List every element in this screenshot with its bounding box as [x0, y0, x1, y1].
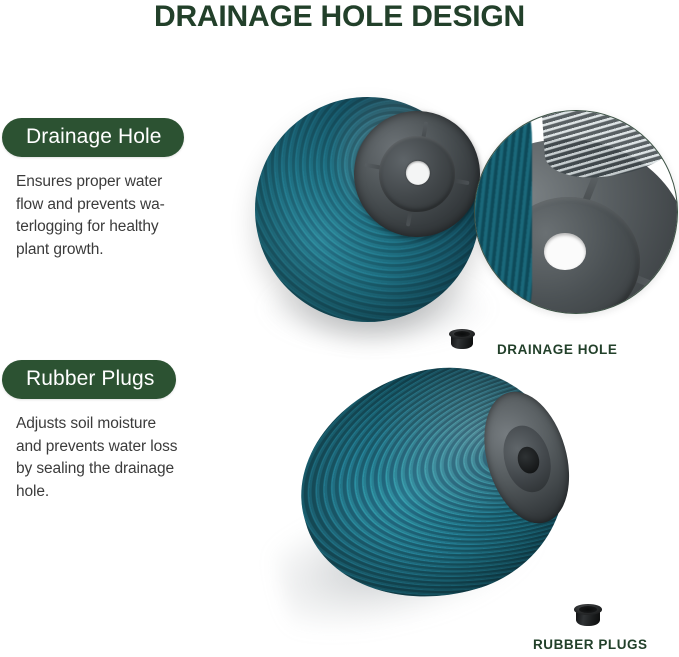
desc-line: Adjusts soil moisture: [16, 413, 216, 435]
drainage-hole-icon: [404, 159, 431, 186]
base-inner-disc: [374, 131, 459, 216]
plug-barrel: [576, 609, 600, 626]
plug-barrel: [451, 333, 473, 348]
base-spoke-icon: [563, 158, 606, 251]
feature-block-rubber-plugs: Rubber Plugs Adjusts soil moisture and p…: [0, 360, 245, 503]
pot-base-plate: [470, 382, 584, 534]
desc-line: Ensures proper water: [16, 171, 216, 193]
product-artwork: [0, 0, 679, 657]
top-pot-shadow: [262, 268, 492, 348]
planter-pot-tilted-view: [274, 340, 591, 629]
sealed-plug-icon: [515, 444, 542, 476]
base-spoke-icon: [565, 247, 658, 290]
desc-line: hole.: [16, 481, 216, 503]
pot-highlight: [372, 115, 467, 183]
description-drainage-hole: Ensures proper water flow and prevents w…: [16, 171, 216, 261]
pot-rim-shading: [255, 97, 480, 322]
pot-body: [255, 97, 480, 322]
page-title: DRAINAGE HOLE DESIGN: [0, 0, 679, 34]
magnified-rib-edge: [541, 110, 678, 180]
base-spoke-icon: [365, 162, 418, 175]
magnified-base-plate: [474, 139, 678, 314]
caption-drainage-hole: DRAINAGE HOLE: [497, 342, 617, 357]
base-spoke-icon: [415, 121, 428, 174]
base-spoke-icon: [474, 210, 567, 253]
base-spoke-icon: [406, 173, 419, 226]
pot-base-plate: [346, 102, 488, 244]
desc-line: flow and prevents wa-: [16, 194, 216, 216]
badge-rubber-plugs: Rubber Plugs: [2, 360, 176, 399]
desc-line: plant growth.: [16, 239, 216, 261]
badge-drainage-hole: Drainage Hole: [2, 118, 184, 157]
plug-flange: [449, 329, 475, 339]
plug-bore: [454, 331, 471, 337]
magnified-pot-edge: [474, 110, 532, 314]
pot-rim-shading: [274, 340, 591, 629]
base-spoke-icon: [417, 172, 470, 185]
desc-line: terlogging for healthy: [16, 216, 216, 238]
desc-line: and prevents water loss: [16, 436, 216, 458]
magnified-detail-circle: [474, 110, 678, 314]
desc-line: by sealing the drainage: [16, 458, 216, 480]
pot-ribbed-texture: [274, 340, 591, 629]
planter-pot-top-view: [255, 97, 480, 322]
caption-rubber-plugs: RUBBER PLUGS: [533, 637, 648, 652]
plug-flange: [574, 604, 602, 615]
base-spoke-icon: [526, 249, 569, 314]
feature-block-drainage-hole: Drainage Hole Ensures proper water flow …: [0, 118, 245, 261]
rubber-plug-icon: [574, 604, 602, 628]
pot-body: [274, 340, 591, 629]
base-inner-disc: [496, 420, 557, 497]
infographic-page: DRAINAGE HOLE DESIGN Drainage Hole Ensur…: [0, 0, 679, 657]
rubber-plug-icon: [449, 329, 475, 351]
magnified-inner-disc: [497, 197, 640, 314]
plug-bore: [579, 606, 597, 613]
description-rubber-plugs: Adjusts soil moisture and prevents water…: [16, 413, 216, 503]
magnified-drainage-hole-icon: [544, 233, 586, 271]
pot-ribbed-texture: [255, 97, 480, 322]
bottom-pot-shadow: [267, 468, 548, 647]
